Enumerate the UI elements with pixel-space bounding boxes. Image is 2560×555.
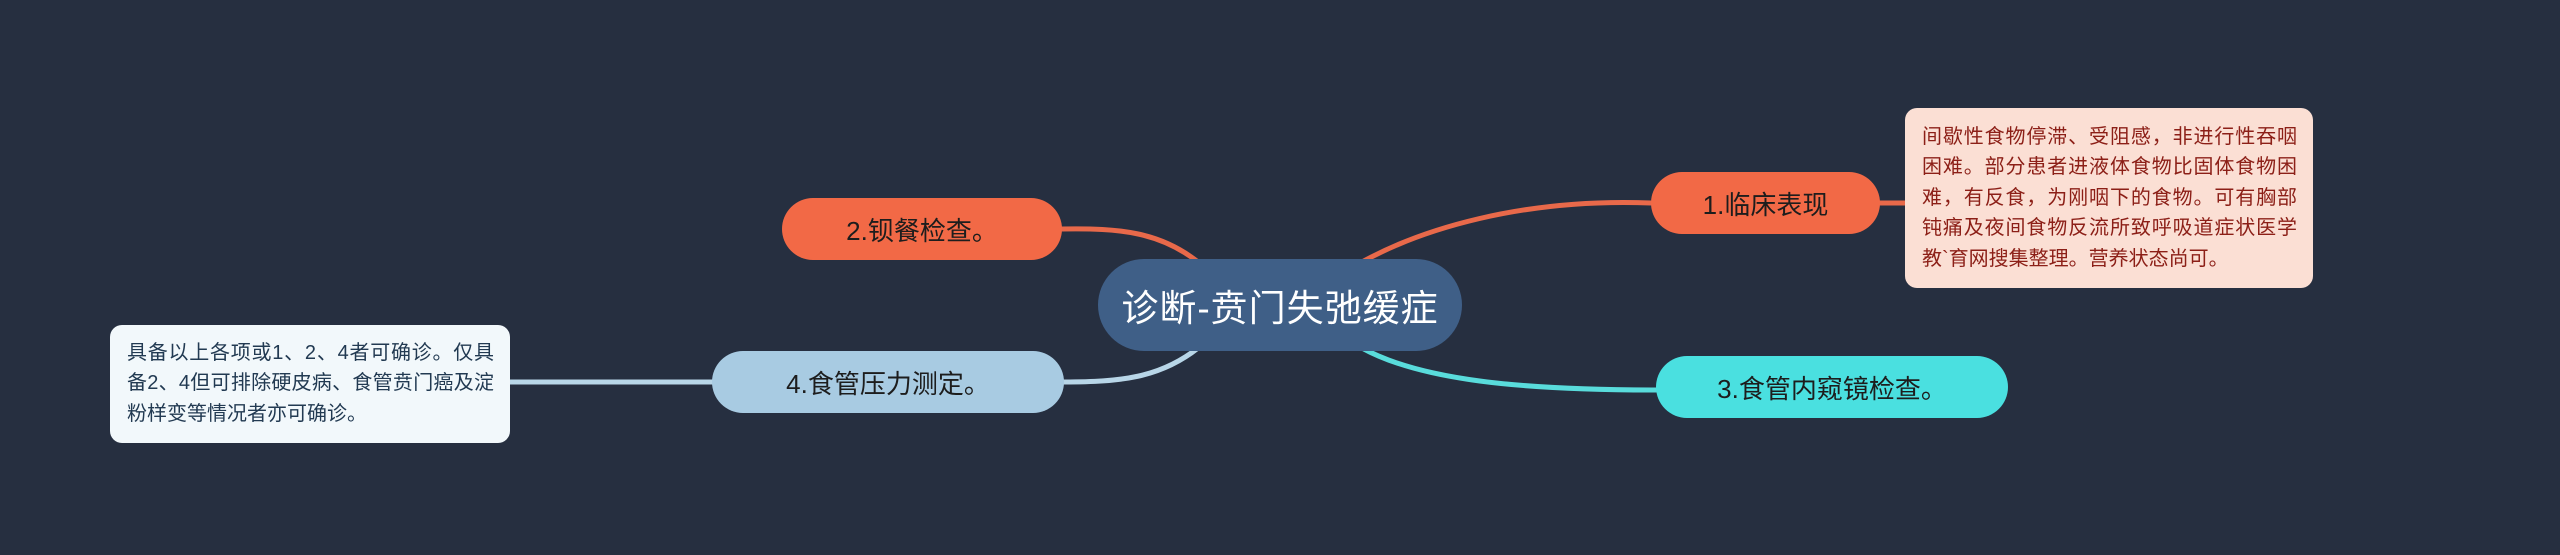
detail-right-text: 间歇性食物停滞、受阻感，非进行性吞咽困难。部分患者进液体食物比固体食物困难，有反…	[1922, 122, 2297, 274]
edge-central-to-node-4	[1064, 348, 1198, 382]
mindmap-canvas: 诊断-贲门失弛缓症 1.临床表现 2.钡餐检查。 3.食管内窥镜检查。 4.食管…	[0, 0, 2560, 555]
branch-node-barium-meal-exam[interactable]: 2.钡餐检查。	[782, 198, 1062, 260]
edge-central-to-node-1	[1362, 202, 1651, 262]
central-node[interactable]: 诊断-贲门失弛缓症	[1098, 259, 1462, 351]
branch-node-clinical-manifestation[interactable]: 1.临床表现	[1651, 172, 1880, 234]
detail-left-text: 具备以上各项或1、2、4者可确诊。仅具备2、4但可排除硬皮病、食管贲门癌及淀粉样…	[127, 338, 494, 429]
branch-node-esophageal-endoscopy[interactable]: 3.食管内窥镜检查。	[1656, 356, 2008, 418]
edge-central-to-node-2	[1062, 229, 1198, 262]
branch-node-esophageal-manometry[interactable]: 4.食管压力测定。	[712, 351, 1064, 413]
edge-central-to-node-3	[1362, 348, 1656, 390]
detail-box-diagnostic-criteria: 具备以上各项或1、2、4者可确诊。仅具备2、4但可排除硬皮病、食管贲门癌及淀粉样…	[110, 325, 510, 443]
detail-box-clinical-manifestation: 间歇性食物停滞、受阻感，非进行性吞咽困难。部分患者进液体食物比固体食物困难，有反…	[1905, 108, 2313, 288]
